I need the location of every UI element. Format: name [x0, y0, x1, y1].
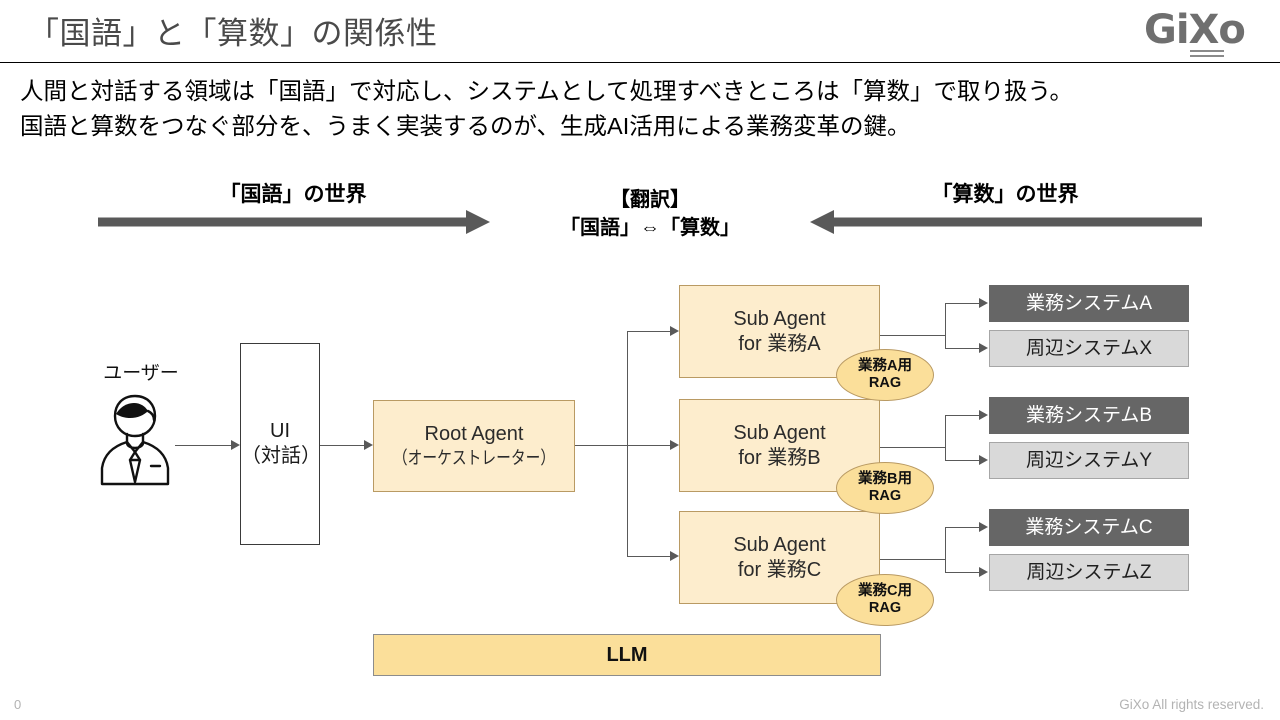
rag-c-line-2: RAG — [869, 600, 901, 617]
user-avatar-icon — [96, 390, 174, 490]
llm-box[interactable]: LLM — [373, 634, 881, 676]
ui-box-line-2: （対話） — [241, 444, 319, 469]
connector-sub-b-to-core — [945, 415, 980, 416]
rag-ellipse-b[interactable]: 業務B用 RAG — [836, 462, 934, 514]
arrowhead-trunk-to-sub-b — [670, 440, 679, 450]
rag-ellipse-c[interactable]: 業務C用 RAG — [836, 574, 934, 626]
sub-agent-a-line-1: Sub Agent — [733, 307, 825, 332]
sub-agent-b-line-1: Sub Agent — [733, 421, 825, 446]
title-divider — [0, 62, 1280, 63]
peripheral-system-box-y[interactable]: 周辺システムY — [989, 442, 1189, 479]
translation-label: 【翻訳】 「国語」⇔「算数」 — [520, 186, 780, 242]
page-title: 「国語」と「算数」の関係性 — [28, 8, 438, 53]
arrowhead-sub-c-to-core — [979, 522, 988, 532]
rag-a-line-1: 業務A用 — [858, 358, 912, 375]
gixo-logo: GiXo — [1144, 10, 1256, 58]
gixo-logo-underline — [1190, 47, 1224, 57]
rag-ellipse-a[interactable]: 業務A用 RAG — [836, 349, 934, 401]
peripheral-system-box-z[interactable]: 周辺システムZ — [989, 554, 1189, 591]
sub-agent-b-line-2: for 業務B — [738, 446, 820, 471]
connector-sub-a-to-peripheral — [945, 348, 980, 349]
connector-root-to-trunk — [575, 445, 628, 446]
arrowhead-sub-b-to-peripheral — [979, 455, 988, 465]
connector-sub-c-stem — [880, 559, 946, 560]
copyright-text: GiXo All rights reserved. — [1119, 697, 1264, 712]
kokugo-direction-arrow — [96, 208, 492, 236]
lead-line-2: 国語と算数をつなぐ部分を、うまく実装するのが、生成AI活用による業務変革の鍵。 — [20, 109, 1260, 144]
lead-paragraph: 人間と対話する領域は「国語」で対応し、システムとして処理すべきところは「算数」で… — [20, 74, 1260, 144]
arrowhead-sub-a-to-core — [979, 298, 988, 308]
sansu-direction-arrow — [808, 208, 1204, 236]
connector-sub-b-split — [945, 415, 946, 460]
connector-user-to-ui — [175, 445, 232, 446]
connector-sub-a-stem — [880, 335, 946, 336]
connector-sub-c-to-core — [945, 527, 980, 528]
connector-trunk-vertical — [627, 331, 628, 556]
sub-agent-c-line-2: for 業務C — [738, 558, 821, 583]
connector-trunk-to-sub-b — [627, 445, 672, 446]
connector-ui-to-root — [320, 445, 365, 446]
rag-b-line-1: 業務B用 — [858, 471, 912, 488]
translation-label-line-1: 【翻訳】 — [520, 186, 780, 214]
connector-sub-a-split — [945, 303, 946, 348]
root-agent-line-1: Root Agent — [425, 422, 524, 447]
rag-c-line-1: 業務C用 — [858, 583, 912, 600]
core-system-box-a[interactable]: 業務システムA — [989, 285, 1189, 322]
arrowhead-ui-to-root — [364, 440, 373, 450]
connector-sub-c-to-peripheral — [945, 572, 980, 573]
ui-box[interactable]: UI （対話） — [240, 343, 320, 545]
sub-agent-c-line-1: Sub Agent — [733, 533, 825, 558]
peripheral-system-box-x[interactable]: 周辺システムX — [989, 330, 1189, 367]
core-system-box-b[interactable]: 業務システムB — [989, 397, 1189, 434]
arrowhead-sub-a-to-peripheral — [979, 343, 988, 353]
rag-a-line-2: RAG — [869, 375, 901, 392]
connector-sub-b-stem — [880, 447, 946, 448]
connector-sub-b-to-peripheral — [945, 460, 980, 461]
sub-agent-a-line-2: for 業務A — [738, 332, 820, 357]
arrowhead-user-to-ui — [231, 440, 240, 450]
rag-b-line-2: RAG — [869, 488, 901, 505]
arrowhead-trunk-to-sub-c — [670, 551, 679, 561]
slide-canvas: 「国語」と「算数」の関係性 GiXo 人間と対話する領域は「国語」で対応し、シス… — [0, 0, 1280, 720]
lead-line-1: 人間と対話する領域は「国語」で対応し、システムとして処理すべきところは「算数」で… — [20, 74, 1260, 109]
user-label: ユーザー — [86, 358, 196, 385]
connector-sub-a-to-core — [945, 303, 980, 304]
arrowhead-sub-b-to-core — [979, 410, 988, 420]
connector-sub-c-split — [945, 527, 946, 572]
root-agent-box[interactable]: Root Agent （オーケストレーター） — [373, 400, 575, 492]
kokugo-world-label: 「国語」の世界 — [98, 178, 488, 208]
connector-trunk-to-sub-a — [627, 331, 672, 332]
core-system-box-c[interactable]: 業務システムC — [989, 509, 1189, 546]
gixo-logo-text: GiXo — [1144, 10, 1256, 50]
translation-label-line-2: 「国語」⇔「算数」 — [520, 214, 780, 242]
arrowhead-sub-c-to-peripheral — [979, 567, 988, 577]
connector-trunk-to-sub-c — [627, 556, 672, 557]
sansu-world-label: 「算数」の世界 — [810, 178, 1200, 208]
arrowhead-trunk-to-sub-a — [670, 326, 679, 336]
root-agent-line-2: （オーケストレーター） — [375, 447, 573, 470]
ui-box-line-1: UI — [270, 419, 290, 444]
page-number: 0 — [14, 697, 21, 712]
